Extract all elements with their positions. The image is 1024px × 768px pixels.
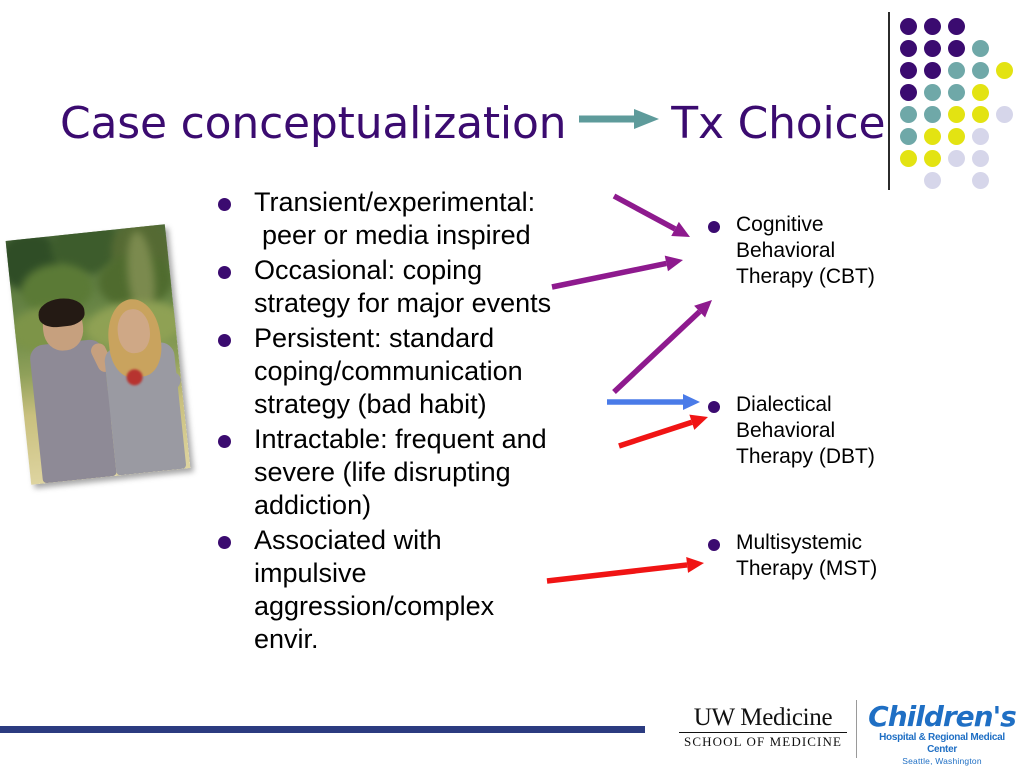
logo-dot [948, 62, 965, 79]
photo-content [6, 224, 191, 484]
list-item: Occasional: coping strategy for major ev… [210, 254, 640, 320]
list-item: Transient/experimental: peer or media in… [210, 186, 640, 252]
uw-logo-rule [679, 732, 847, 733]
bullet-icon [708, 401, 720, 413]
logo-dot [948, 84, 965, 101]
childrens-logo-city: Seattle, Washington [866, 756, 1018, 767]
uw-logo-title: UW Medicine [679, 704, 847, 731]
list-item-line: Occasional: coping [254, 254, 640, 287]
logo-dot [948, 128, 965, 145]
list-item-line: strategy for major events [254, 287, 640, 320]
list-item-line: strategy (bad habit) [254, 388, 640, 421]
childrens-logo-subtitle: Hospital & Regional Medical Center [866, 732, 1018, 756]
treatment-line: Multisystemic [736, 530, 986, 556]
logo-dot [924, 106, 941, 123]
logo-dot [972, 40, 989, 57]
treatment-line: Behavioral [736, 238, 986, 264]
list-item: Associated with impulsive aggression/com… [210, 524, 640, 656]
list-item: Intractable: frequent and severe (life d… [210, 423, 640, 522]
list-item-line: peer or media inspired [254, 219, 640, 252]
logo-dot [924, 84, 941, 101]
right-arrow-icon [577, 106, 663, 137]
treatment-line: Therapy (CBT) [736, 264, 986, 290]
list-item-line: Intractable: frequent and [254, 423, 640, 456]
slide-canvas: Case conceptualization Tx Choice [0, 0, 1024, 768]
page-title: Case conceptualization Tx Choice [60, 95, 880, 155]
logo-dot [900, 40, 917, 57]
list-item-line: Transient/experimental: [254, 186, 640, 219]
logo-vertical-rule [888, 12, 890, 190]
uw-logo-subtitle: SCHOOL OF MEDICINE [679, 734, 847, 749]
logo-dot [924, 128, 941, 145]
logo-dot [900, 18, 917, 35]
title-left-text: Case conceptualization [60, 98, 566, 149]
treatment-item-cbt: Cognitive Behavioral Therapy (CBT) [700, 212, 986, 290]
logo-dot [924, 150, 941, 167]
bullet-icon [708, 539, 720, 551]
treatment-line: Behavioral [736, 418, 986, 444]
logo-dot [948, 106, 965, 123]
logo-dot [900, 84, 917, 101]
footer-rule [0, 726, 645, 733]
treatment-line: Therapy (MST) [736, 556, 986, 582]
logo-dot [996, 62, 1013, 79]
logo-dot [972, 106, 989, 123]
logo-dot [972, 128, 989, 145]
logo-dot [900, 106, 917, 123]
list-item: Persistent: standard coping/communicatio… [210, 322, 640, 421]
list-item-line: Associated with [254, 524, 640, 557]
treatment-item-mst: Multisystemic Therapy (MST) [700, 530, 986, 582]
logo-dot [972, 62, 989, 79]
logo-dot [924, 40, 941, 57]
list-item-line: impulsive [254, 557, 640, 590]
title-right-text: Tx Choice [671, 98, 885, 149]
logo-dot [948, 150, 965, 167]
logo-dot [972, 172, 989, 189]
treatment-line: Therapy (DBT) [736, 444, 986, 470]
list-item-line: coping/communication [254, 355, 640, 388]
logo-dot [924, 18, 941, 35]
bullet-icon [218, 334, 231, 347]
treatment-item-dbt: Dialectical Behavioral Therapy (DBT) [700, 392, 986, 470]
uw-medicine-logo: UW Medicine SCHOOL OF MEDICINE [679, 704, 847, 749]
bullet-icon [218, 536, 231, 549]
bullet-icon [218, 435, 231, 448]
logo-dot [948, 40, 965, 57]
treatment-line: Cognitive [736, 212, 986, 238]
list-item-line: Persistent: standard [254, 322, 640, 355]
list-item-line: addiction) [254, 489, 640, 522]
logo-dot [900, 62, 917, 79]
logo-dot [948, 18, 965, 35]
footer-logo-divider [856, 700, 857, 758]
bullet-icon [218, 198, 231, 211]
list-item-line: envir. [254, 623, 640, 656]
logo-dot [900, 150, 917, 167]
list-item-line: severe (life disrupting [254, 456, 640, 489]
logo-dot [996, 106, 1013, 123]
list-item-line: aggression/complex [254, 590, 640, 623]
logo-dot [924, 172, 941, 189]
bullet-icon [708, 221, 720, 233]
case-conceptualization-list: Transient/experimental: peer or media in… [210, 186, 640, 658]
treatment-line: Dialectical [736, 392, 986, 418]
childrens-logo-title: Children's [866, 702, 1018, 732]
bullet-icon [218, 266, 231, 279]
childrens-hospital-logo: Children's Hospital & Regional Medical C… [866, 702, 1018, 767]
dot-grid-logo [888, 8, 1020, 186]
logo-dot [972, 150, 989, 167]
logo-dot [924, 62, 941, 79]
logo-dot [900, 128, 917, 145]
logo-dot [972, 84, 989, 101]
teen-couple-photo [6, 224, 191, 484]
